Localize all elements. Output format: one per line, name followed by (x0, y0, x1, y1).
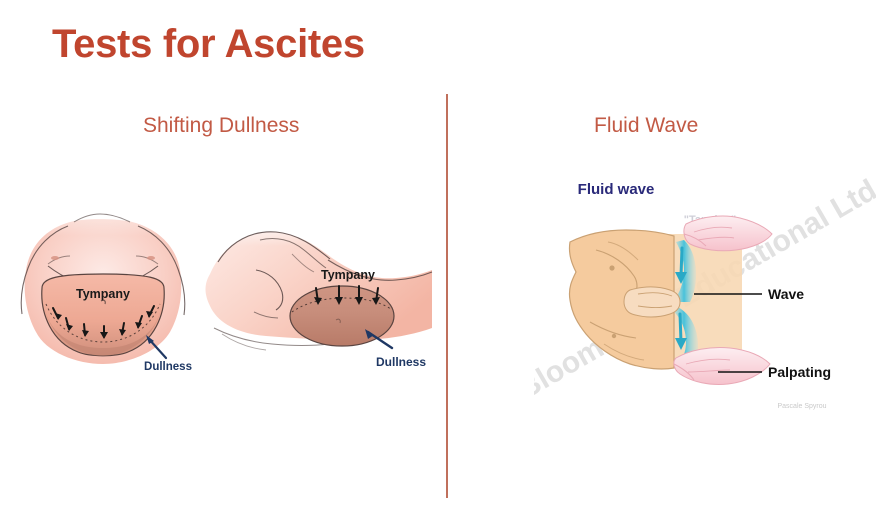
label-palpating: Palpating (768, 364, 831, 380)
abdomen-fluid-mass (290, 286, 394, 346)
slide-canvas: Tests for Ascites Shifting Dullness Flui… (0, 0, 894, 507)
page-title: Tests for Ascites (52, 22, 365, 67)
nipple-marker (609, 265, 614, 270)
fluid-wave-title: Fluid wave (578, 181, 655, 198)
umbilicus-marker (612, 334, 616, 338)
label-dullness: Dullness (144, 361, 192, 372)
label-tympany: Tympany (76, 287, 130, 301)
column-heading-shifting-dullness: Shifting Dullness (143, 114, 299, 138)
label-wave: Wave (768, 286, 804, 302)
left-nipple (51, 256, 59, 260)
label-dullness: Dullness (376, 355, 426, 369)
column-heading-fluid-wave: Fluid Wave (594, 114, 698, 138)
column-divider (446, 94, 448, 498)
artist-credit: Pascale Spyrou (777, 403, 826, 410)
figure-shifting-dullness-frontal: Tympany Dullness (8, 192, 198, 372)
palpating-hand (674, 347, 770, 384)
right-nipple (147, 256, 155, 260)
top-fade (196, 216, 436, 246)
figure-fluid-wave: Bloomsbury Educational Ltd Fluid wave "T… (534, 172, 876, 416)
midline-hand (624, 287, 680, 317)
label-tympany: Tympany (321, 268, 375, 282)
figure-shifting-dullness-lateral: Tympany Dullness (196, 216, 436, 376)
